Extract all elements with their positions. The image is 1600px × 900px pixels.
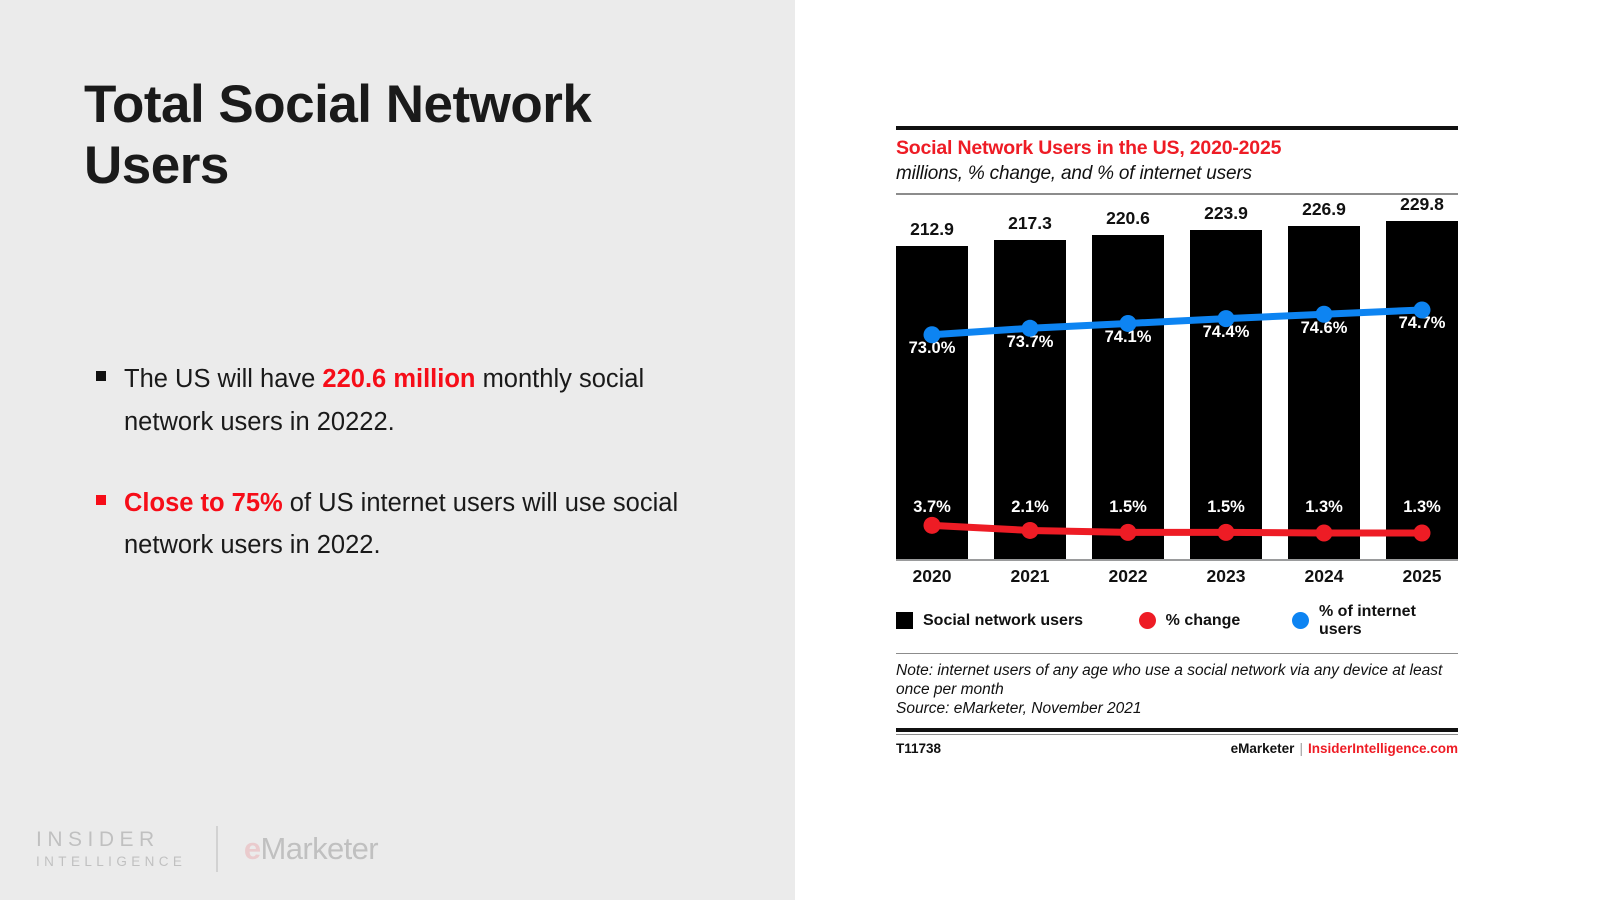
pct-internet-users-label: 74.1%: [1092, 328, 1164, 347]
pct-change-label: 2.1%: [994, 498, 1066, 517]
bar-value-label: 220.6: [1092, 208, 1164, 229]
x-axis-line: [896, 559, 1458, 561]
bar-column: 212.973.0%3.7%: [896, 207, 968, 559]
chart-bottom-rule-thin: [896, 734, 1458, 736]
list-item: The US will have 220.6 million monthly s…: [96, 358, 716, 444]
footer-brand-name: eMarketer: [1231, 741, 1295, 756]
chart-plot-area: 212.973.0%3.7%217.373.7%2.1%220.674.1%1.…: [896, 207, 1458, 559]
legend-label: Social network users: [923, 612, 1083, 630]
emarketer-logo: eMarketer: [244, 831, 378, 867]
legend-item-pct-change: % change: [1139, 603, 1292, 639]
chart-legend: Social network users % change % of inter…: [896, 603, 1458, 639]
slide: Total Social Network Users The US will h…: [0, 0, 1600, 900]
bullet-text: The US will have 220.6 million monthly s…: [124, 358, 716, 444]
bullet-highlight: Close to 75%: [124, 489, 283, 517]
bullet-plain: The US will have: [124, 365, 322, 393]
x-axis-label: 2023: [1190, 566, 1262, 587]
circle-icon: [1139, 612, 1156, 629]
list-item: Close to 75% of US internet users will u…: [96, 482, 716, 568]
bar-value-label: 226.9: [1288, 199, 1360, 220]
pct-internet-users-label: 74.7%: [1386, 314, 1458, 333]
bar-value-label: 223.9: [1190, 203, 1262, 224]
bar-series: 212.973.0%3.7%217.373.7%2.1%220.674.1%1.…: [896, 207, 1458, 559]
bar-value-label: 217.3: [994, 213, 1066, 234]
bullet-highlight: 220.6 million: [322, 365, 475, 393]
x-axis-label: 2024: [1288, 566, 1360, 587]
bar-column: 223.974.4%1.5%: [1190, 207, 1262, 559]
bar-column: 229.874.7%1.3%: [1386, 207, 1458, 559]
legend-label: % of internet users: [1319, 603, 1458, 639]
x-axis-labels: 202020212022202320242025: [896, 566, 1458, 587]
logo-divider: [216, 826, 218, 872]
bullet-text: Close to 75% of US internet users will u…: [124, 482, 716, 568]
x-axis-label: 2022: [1092, 566, 1164, 587]
bar-column: 217.373.7%2.1%: [994, 207, 1066, 559]
chart-footer: T11738 eMarketer|InsiderIntelligence.com: [896, 741, 1458, 756]
pct-change-label: 3.7%: [896, 498, 968, 517]
chart-subtitle: millions, % change, and % of internet us…: [896, 163, 1458, 185]
left-content-panel: Total Social Network Users The US will h…: [0, 0, 795, 900]
insider-logo-line1: INSIDER: [36, 827, 186, 853]
chart-notes-rule: [896, 653, 1458, 655]
circle-icon: [1292, 612, 1309, 629]
pct-internet-users-label: 73.0%: [896, 339, 968, 358]
pct-change-label: 1.5%: [1092, 498, 1164, 517]
pct-change-label: 1.5%: [1190, 498, 1262, 517]
footer-site-link[interactable]: InsiderIntelligence.com: [1308, 741, 1458, 756]
square-icon: [896, 612, 913, 629]
chart-top-rule: [896, 126, 1458, 130]
bar-column: 220.674.1%1.5%: [1092, 207, 1164, 559]
x-axis-label: 2021: [994, 566, 1066, 587]
pct-internet-users-label: 74.4%: [1190, 323, 1262, 342]
bullet-marker-icon: [96, 495, 106, 505]
emarketer-logo-text: Marketer: [260, 831, 378, 866]
chart-source: Source: eMarketer, November 2021: [896, 699, 1458, 718]
chart-title: Social Network Users in the US, 2020-202…: [896, 137, 1458, 160]
legend-item-social-network-users: Social network users: [896, 603, 1139, 639]
pct-change-label: 1.3%: [1288, 498, 1360, 517]
emarketer-logo-e: e: [244, 831, 261, 866]
insider-intelligence-logo: INSIDER INTELLIGENCE: [36, 827, 186, 870]
pct-internet-users-label: 74.6%: [1288, 319, 1360, 338]
pct-internet-users-label: 73.7%: [994, 333, 1066, 352]
chart-note: Note: internet users of any age who use …: [896, 661, 1458, 699]
insider-logo-line2: INTELLIGENCE: [36, 854, 186, 871]
chart-bottom-rule: [896, 728, 1458, 732]
x-axis-label: 2020: [896, 566, 968, 587]
bar-value-label: 212.9: [896, 219, 968, 240]
bullet-marker-icon: [96, 371, 106, 381]
brand-logo: INSIDER INTELLIGENCE eMarketer: [36, 826, 378, 872]
page-title: Total Social Network Users: [84, 74, 704, 197]
legend-label: % change: [1166, 612, 1241, 630]
bar-column: 226.974.6%1.3%: [1288, 207, 1360, 559]
x-axis-label: 2025: [1386, 566, 1458, 587]
bullet-list: The US will have 220.6 million monthly s…: [96, 358, 716, 605]
chart-header-rule: [896, 193, 1458, 195]
pct-change-label: 1.3%: [1386, 498, 1458, 517]
legend-item-pct-internet-users: % of internet users: [1292, 603, 1458, 639]
bar-value-label: 229.8: [1386, 194, 1458, 215]
chart-card: Social Network Users in the US, 2020-202…: [896, 126, 1458, 756]
footer-separator: |: [1299, 741, 1303, 756]
chart-footer-brand: eMarketer|InsiderIntelligence.com: [1231, 741, 1458, 756]
chart-id: T11738: [896, 741, 941, 756]
chart-panel: Social Network Users in the US, 2020-202…: [795, 0, 1600, 900]
chart-notes: Note: internet users of any age who use …: [896, 661, 1458, 719]
